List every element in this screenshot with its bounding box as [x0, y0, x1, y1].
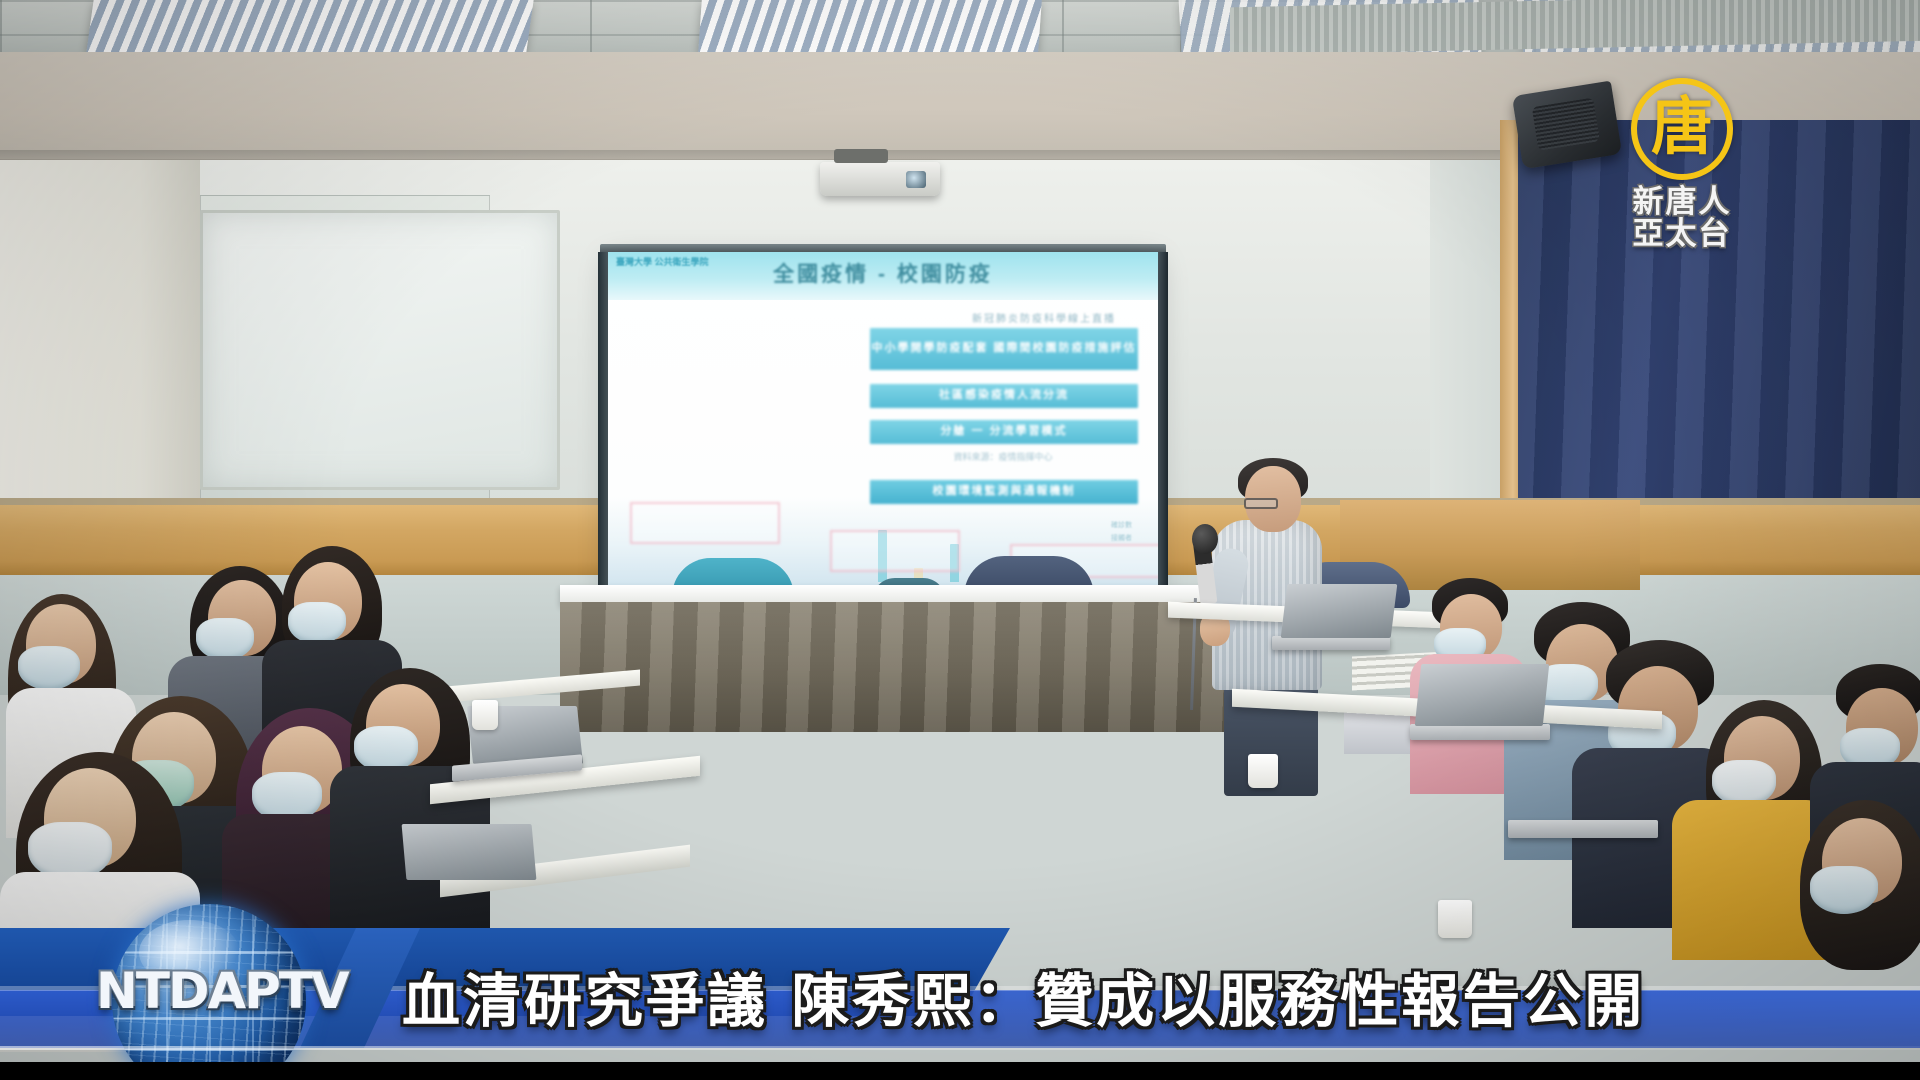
projector-lens	[906, 171, 926, 188]
slide-chart-legend-item: 確診數	[1111, 520, 1132, 533]
face-mask	[1810, 866, 1878, 914]
lower-third-banner: NTDAPTV 血清研究爭議 陳秀熙：贊成以服務性報告公開	[0, 928, 1920, 1062]
ntd-seal-icon: 唐	[1631, 78, 1733, 180]
letterbox-bar	[0, 1062, 1920, 1080]
laptop	[1272, 636, 1390, 650]
projection-screen: 臺灣大學 公共衛生學院 全國疫情 - 校園防疫 新冠肺炎防疫科學線上直播 中小學…	[608, 252, 1158, 592]
laptop	[1410, 724, 1550, 740]
laptop-screen	[1281, 584, 1398, 638]
head-table-skirt	[560, 602, 1280, 732]
news-headline: 血清研究爭議 陳秀熙：贊成以服務性報告公開	[402, 954, 1645, 1038]
station-name: 新唐人 亞太台	[1594, 186, 1770, 250]
slide-highlight-callout: 校園環境監測與通報機制	[870, 480, 1138, 504]
presentation-slide: 臺灣大學 公共衛生學院 全國疫情 - 校園防疫 新冠肺炎防疫科學線上直播 中小學…	[608, 252, 1158, 592]
ntd-seal-glyph: 唐	[1651, 96, 1713, 158]
station-name-line1: 新唐人	[1594, 186, 1770, 218]
face-mask	[288, 602, 346, 644]
ceiling-projector	[820, 162, 940, 196]
face-mask	[18, 646, 80, 690]
laptop-screen	[1415, 664, 1550, 726]
slide-title: 全國疫情 - 校園防疫	[608, 258, 1158, 288]
slide-note: 資料來源：疫情指揮中心	[878, 450, 1128, 463]
laptop-screen	[402, 824, 537, 880]
whiteboard	[200, 210, 560, 490]
broadcast-frame: 臺灣大學 公共衛生學院 全國疫情 - 校園防疫 新冠肺炎防疫科學線上直播 中小學…	[0, 0, 1920, 1080]
station-name-line2: 亞太台	[1594, 218, 1770, 250]
ceiling-light-2	[698, 0, 1042, 52]
slide-subtitle: 新冠肺炎防疫科學線上直播	[972, 310, 1116, 325]
lower-third-bottom-edge	[0, 1046, 1920, 1050]
microphone-head	[1192, 524, 1218, 554]
slide-callout-1: 中小學開學防疫配套 國際間校園防疫措施評估	[870, 328, 1138, 370]
glasses-icon	[1244, 498, 1278, 509]
ceiling-light-1	[86, 0, 533, 52]
laptop	[1508, 820, 1658, 838]
paper-cup	[472, 700, 498, 730]
slide-callout-3: 分艙 一 分流學習模式	[870, 420, 1138, 444]
slide-callout-2: 社區感染疫情人流分流	[870, 384, 1138, 408]
slide-chart-legend: 確診數 接觸者	[1111, 520, 1132, 545]
paper-cup	[1248, 754, 1278, 788]
face-mask	[196, 618, 254, 660]
slide-table-block	[630, 502, 780, 544]
channel-logo-text: NTDAPTV	[96, 962, 416, 1020]
station-logo: 唐 新唐人 亞太台	[1594, 78, 1770, 268]
slide-table-block	[830, 530, 960, 572]
